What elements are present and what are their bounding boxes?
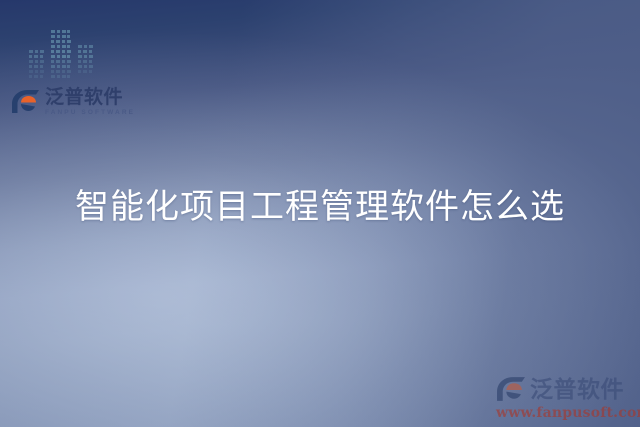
- fanpu-logo-icon: [496, 376, 526, 403]
- brand-name-en: FANPU SOFTWARE: [45, 110, 135, 117]
- brand-name-cn: 泛普软件: [45, 88, 135, 107]
- watermark-logo-row: 泛普软件: [496, 376, 636, 403]
- brand-wordmark: 泛普软件 FANPU SOFTWARE: [45, 88, 135, 117]
- slide-canvas: 泛普软件 FANPU SOFTWARE 智能化项目工程管理软件怎么选 泛普软件 …: [0, 0, 640, 427]
- brand-logo-top-left: 泛普软件 FANPU SOFTWARE: [11, 88, 135, 117]
- brand-watermark-bottom-right: 泛普软件 www.fanpusoft.com: [496, 376, 636, 421]
- watermark-name-cn: 泛普软件: [530, 378, 624, 401]
- pixel-skyline-icon: [26, 26, 98, 84]
- fanpu-logo-icon: [11, 89, 40, 115]
- watermark-url: www.fanpusoft.com: [496, 405, 636, 421]
- page-title: 智能化项目工程管理软件怎么选: [0, 186, 640, 228]
